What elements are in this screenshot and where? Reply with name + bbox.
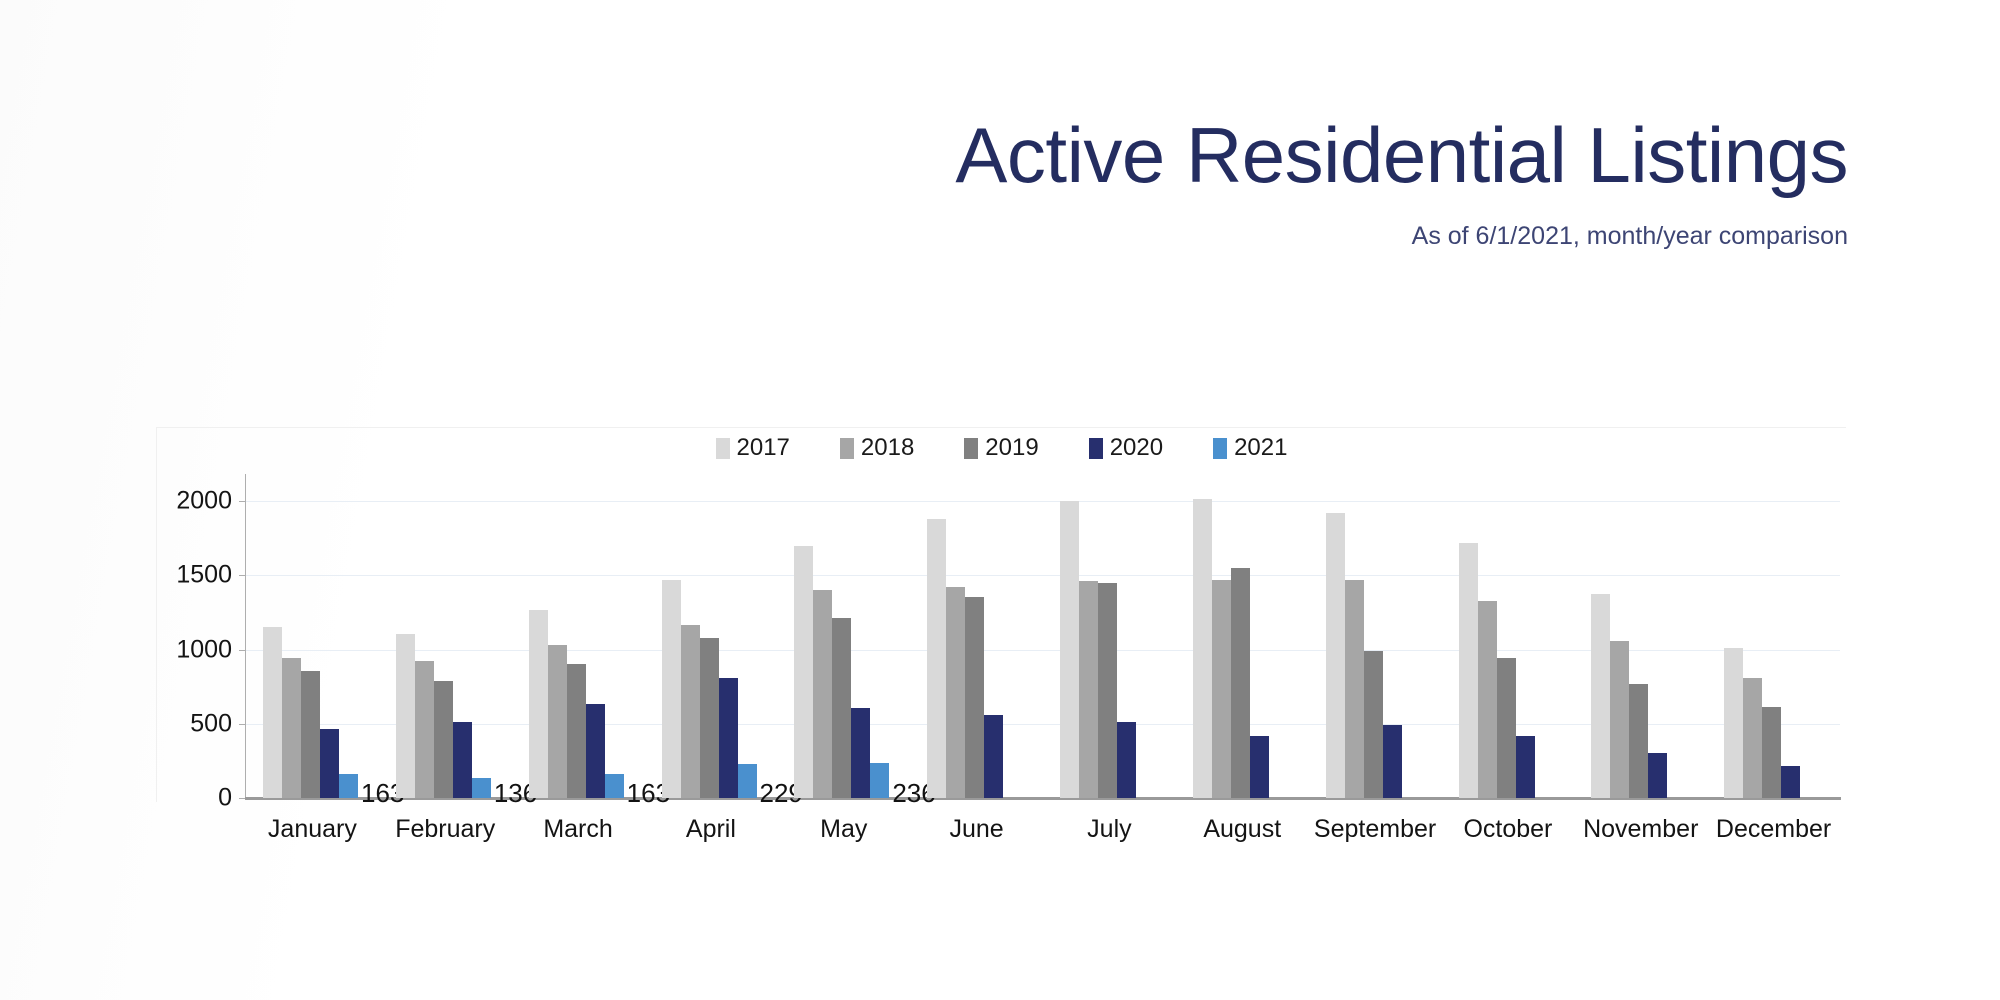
bar-2019-october[interactable] xyxy=(1497,658,1516,798)
bar-group-bars: 229 xyxy=(645,501,778,798)
page-title: Active Residential Listings xyxy=(0,0,1848,192)
bar-2020-december[interactable] xyxy=(1781,766,1800,798)
x-axis-tick-label-february: February xyxy=(395,815,495,844)
legend-label: 2017 xyxy=(737,436,790,460)
x-axis-tick-label-november: November xyxy=(1583,815,1698,844)
bar-group-bars xyxy=(910,501,1043,798)
bar-2018-may[interactable] xyxy=(813,590,832,798)
bar-group-bars: 136 xyxy=(379,501,512,798)
bar-2018-december[interactable] xyxy=(1743,678,1762,798)
bar-group-bars: 236 xyxy=(777,501,910,798)
bar-2021-april[interactable]: 229 xyxy=(738,764,757,798)
x-axis-tick-label-may: May xyxy=(820,815,867,844)
bar-2017-february[interactable] xyxy=(396,634,415,798)
bar-group-november: November xyxy=(1574,501,1707,798)
bar-2020-april[interactable] xyxy=(719,678,738,798)
y-axis-tick-label: 500 xyxy=(137,709,232,738)
x-axis-tick-label-july: July xyxy=(1087,815,1131,844)
bar-2019-june[interactable] xyxy=(965,597,984,798)
x-axis-tick-label-december: December xyxy=(1716,815,1831,844)
bar-2017-march[interactable] xyxy=(529,610,548,798)
bar-2019-may[interactable] xyxy=(832,618,851,798)
bar-2019-april[interactable] xyxy=(700,638,719,798)
bar-2020-october[interactable] xyxy=(1516,736,1535,798)
x-axis-tick-label-june: June xyxy=(949,815,1003,844)
x-axis-tick-label-september: September xyxy=(1314,815,1436,844)
y-axis-tick-label: 0 xyxy=(137,784,232,813)
bar-2019-september[interactable] xyxy=(1364,651,1383,798)
bar-group-bars xyxy=(1707,501,1840,798)
bar-2020-november[interactable] xyxy=(1648,753,1667,798)
bar-2017-december[interactable] xyxy=(1724,648,1743,798)
bar-2021-march[interactable]: 163 xyxy=(605,774,624,798)
legend-item-2017[interactable]: 2017 xyxy=(716,436,790,460)
bar-group-july: July xyxy=(1043,501,1176,798)
bar-2019-february[interactable] xyxy=(434,681,453,798)
bar-2018-june[interactable] xyxy=(946,587,965,798)
bar-group-bars xyxy=(1574,501,1707,798)
x-axis-tick-label-march: March xyxy=(543,815,612,844)
chart-subtitle: As of 6/1/2021, month/year comparison xyxy=(0,192,1848,251)
bar-2019-july[interactable] xyxy=(1098,583,1117,798)
bar-2021-february[interactable]: 136 xyxy=(472,778,491,798)
bar-group-october: October xyxy=(1442,501,1575,798)
legend-item-2018[interactable]: 2018 xyxy=(840,436,914,460)
bar-2020-september[interactable] xyxy=(1383,725,1402,798)
legend-label: 2020 xyxy=(1110,436,1163,460)
x-axis-tick-label-january: January xyxy=(268,815,357,844)
bar-2018-february[interactable] xyxy=(415,661,434,798)
bar-group-december: December xyxy=(1707,501,1840,798)
legend-swatch-icon xyxy=(1213,438,1227,459)
bar-2017-july[interactable] xyxy=(1060,501,1079,798)
bar-2019-january[interactable] xyxy=(301,671,320,798)
bar-2018-march[interactable] xyxy=(548,645,567,798)
bar-2018-april[interactable] xyxy=(681,625,700,798)
bar-group-bars xyxy=(1442,501,1575,798)
bar-group-june: June xyxy=(910,501,1043,798)
bar-2019-march[interactable] xyxy=(567,664,586,798)
bar-2018-october[interactable] xyxy=(1478,601,1497,799)
bar-2017-may[interactable] xyxy=(794,546,813,798)
legend-item-2021[interactable]: 2021 xyxy=(1213,436,1287,460)
bar-2020-february[interactable] xyxy=(453,722,472,798)
bar-2018-november[interactable] xyxy=(1610,641,1629,798)
chart-legend: 20172018201920202021 xyxy=(157,436,1846,460)
bar-2020-june[interactable] xyxy=(984,715,1003,798)
bar-group-january: 163January xyxy=(246,501,379,798)
x-axis-tick-label-august: August xyxy=(1203,815,1281,844)
bar-2020-january[interactable] xyxy=(320,729,339,798)
bar-2017-november[interactable] xyxy=(1591,594,1610,798)
bar-2018-august[interactable] xyxy=(1212,580,1231,798)
x-axis-tick-label-april: April xyxy=(686,815,736,844)
legend-swatch-icon xyxy=(716,438,730,459)
chart-plot-area: 20172018201920202021 0500100015002000 16… xyxy=(156,427,1846,802)
bar-2020-july[interactable] xyxy=(1117,722,1136,798)
bar-2021-may[interactable]: 236 xyxy=(870,763,889,798)
bar-2021-january[interactable]: 163 xyxy=(339,774,358,798)
bar-group-april: 229April xyxy=(645,501,778,798)
bar-group-august: August xyxy=(1176,501,1309,798)
legend-label: 2019 xyxy=(985,436,1038,460)
bar-2017-october[interactable] xyxy=(1459,543,1478,798)
bar-2020-august[interactable] xyxy=(1250,736,1269,798)
legend-swatch-icon xyxy=(840,438,854,459)
bar-2017-september[interactable] xyxy=(1326,513,1345,798)
bar-2017-april[interactable] xyxy=(662,580,681,798)
y-axis-tick-label: 1500 xyxy=(137,561,232,590)
bar-2017-june[interactable] xyxy=(927,519,946,798)
bar-2019-november[interactable] xyxy=(1629,684,1648,798)
x-axis-tick-label-october: October xyxy=(1463,815,1552,844)
legend-item-2020[interactable]: 2020 xyxy=(1089,436,1163,460)
y-axis-tick-label: 1000 xyxy=(137,635,232,664)
bar-group-bars: 163 xyxy=(512,501,645,798)
bar-group-march: 163March xyxy=(512,501,645,798)
bar-2018-january[interactable] xyxy=(282,658,301,798)
bar-group-bars xyxy=(1309,501,1442,798)
legend-swatch-icon xyxy=(964,438,978,459)
bar-2019-august[interactable] xyxy=(1231,568,1250,798)
bar-2018-september[interactable] xyxy=(1345,580,1364,798)
bar-group-bars: 163 xyxy=(246,501,379,798)
bar-2020-march[interactable] xyxy=(586,704,605,798)
bar-2019-december[interactable] xyxy=(1762,707,1781,798)
bar-group-february: 136February xyxy=(379,501,512,798)
chart-header: Active Residential Listings As of 6/1/20… xyxy=(0,0,1900,251)
bar-group-may: 236May xyxy=(777,501,910,798)
bar-2018-july[interactable] xyxy=(1079,581,1098,798)
bar-2017-january[interactable] xyxy=(263,627,282,798)
legend-item-2019[interactable]: 2019 xyxy=(964,436,1038,460)
legend-label: 2021 xyxy=(1234,436,1287,460)
bar-2020-may[interactable] xyxy=(851,708,870,798)
bar-group-bars xyxy=(1043,501,1176,798)
legend-label: 2018 xyxy=(861,436,914,460)
bar-group-september: September xyxy=(1309,501,1442,798)
y-axis-tick-label: 2000 xyxy=(137,487,232,516)
bars-container: 163January136February163March229April236… xyxy=(246,501,1840,798)
bar-group-bars xyxy=(1176,501,1309,798)
bar-2017-august[interactable] xyxy=(1193,499,1212,798)
legend-swatch-icon xyxy=(1089,438,1103,459)
